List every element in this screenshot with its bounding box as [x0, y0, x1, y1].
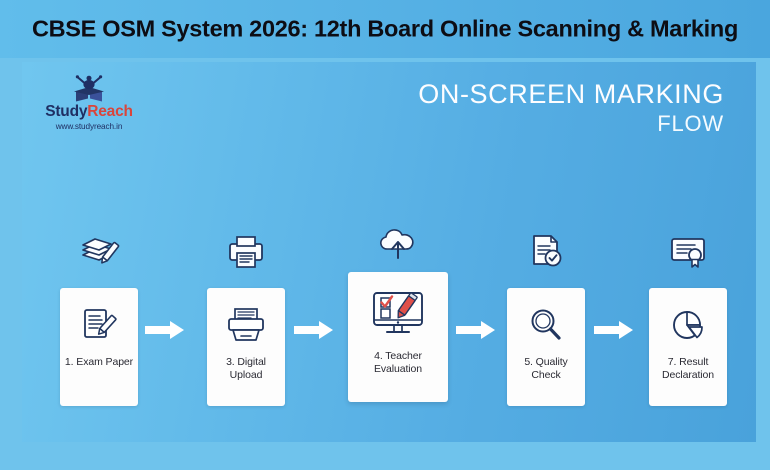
- flow-card-label-2: 3. Digital Upload: [207, 356, 285, 382]
- flow-card-3[interactable]: 4. Teacher Evaluation: [348, 272, 448, 402]
- printer-icon: [223, 230, 269, 274]
- flow-card-2[interactable]: 3. Digital Upload: [207, 288, 285, 406]
- arrow-step3-to-step4: [456, 320, 496, 340]
- scanner-icon: [224, 303, 268, 347]
- flow-card-1[interactable]: 1. Exam Paper: [60, 288, 138, 406]
- page-root: CBSE OSM System 2026: 12th Board Online …: [0, 0, 770, 470]
- flow-card-4[interactable]: 5. Quality Check: [507, 288, 585, 406]
- article-headline-band: CBSE OSM System 2026: 12th Board Online …: [0, 0, 770, 58]
- flow-card-label-5: 7. Result Declaration: [649, 356, 727, 382]
- infographic: StudyReach www.studyreach.in ON-SCREEN M…: [22, 62, 756, 442]
- flow-card-label-1: 1. Exam Paper: [61, 356, 137, 369]
- document-verified-icon: [523, 230, 569, 274]
- monitor-checklist-pencil-icon: [369, 288, 427, 342]
- cloud-upload-icon: [375, 222, 421, 266]
- flow-diagram: 1. Exam Paper: [22, 62, 756, 442]
- pie-chart-icon: [666, 303, 710, 347]
- flow-card-label-4: 5. Quality Check: [507, 356, 585, 382]
- arrow-step1-to-step2: [145, 320, 185, 340]
- flow-card-5[interactable]: 7. Result Declaration: [649, 288, 727, 406]
- page-title: CBSE OSM System 2026: 12th Board Online …: [0, 16, 770, 43]
- document-pencil-icon: [77, 303, 121, 347]
- arrow-step4-to-step5: [594, 320, 634, 340]
- paper-stack-pencil-icon: [76, 230, 122, 274]
- magnifier-icon: [524, 303, 568, 347]
- flow-card-label-3: 4. Teacher Evaluation: [348, 350, 448, 376]
- certificate-icon: [665, 230, 711, 274]
- arrow-step2-to-step3: [294, 320, 334, 340]
